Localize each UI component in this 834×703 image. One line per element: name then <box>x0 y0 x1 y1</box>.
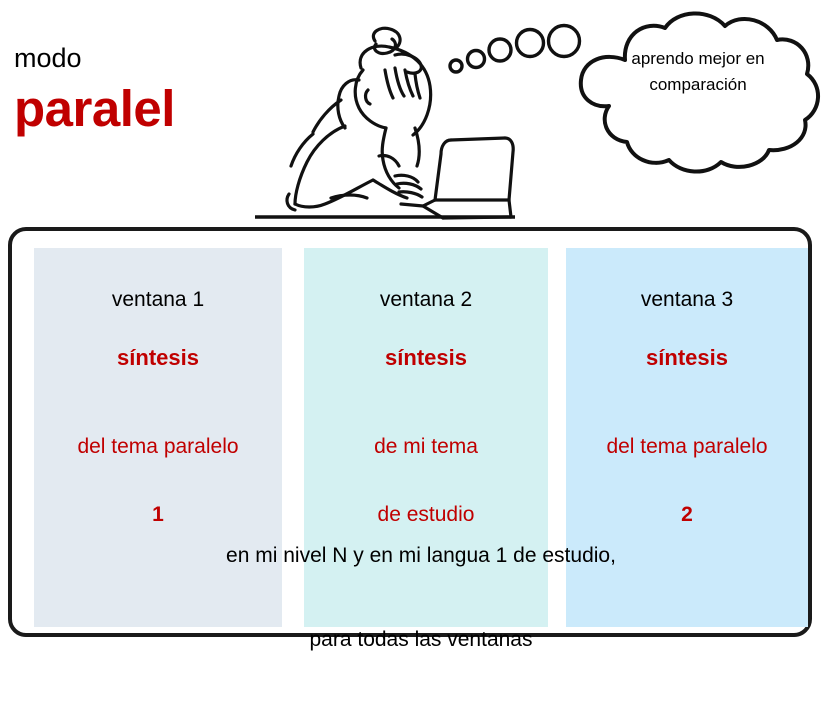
column-body-line2-2: de estudio <box>378 503 475 526</box>
header-area: modo paralel <box>0 0 834 227</box>
synthesis-heading-2: síntesis <box>304 344 548 372</box>
window-label-2: ventana 2 <box>304 287 548 313</box>
synthesis-heading-1: síntesis <box>34 344 282 372</box>
window-label-1: ventana 1 <box>34 287 282 313</box>
columns-row: ventana 1 síntesis del tema paralelo 1 v… <box>34 248 808 627</box>
column-body-3: del tema paralelo 2 <box>566 396 808 532</box>
page-title: modo paralel <box>14 42 274 138</box>
column-body-line2-3: 2 <box>681 503 693 526</box>
window-column-1[interactable]: ventana 1 síntesis del tema paralelo 1 <box>34 248 282 627</box>
column-body-2: de mi tema de estudio <box>304 396 548 532</box>
main-panel: ventana 1 síntesis del tema paralelo 1 v… <box>8 227 812 637</box>
window-label-3: ventana 3 <box>566 287 808 313</box>
column-body-1: del tema paralelo 1 <box>34 396 282 532</box>
window-column-2[interactable]: ventana 2 síntesis de mi tema de estudio <box>304 248 548 627</box>
page-title-line-1: modo <box>14 42 274 74</box>
column-body-line2-1: 1 <box>152 503 164 526</box>
synthesis-heading-3: síntesis <box>566 344 808 372</box>
thought-cloud-text: aprendo mejor en comparación <box>608 46 788 98</box>
page-title-line-2: paralel <box>14 80 274 138</box>
column-body-line1-2: de mi tema <box>374 435 478 458</box>
window-column-3[interactable]: ventana 3 síntesis del tema paralelo 2 <box>566 248 808 627</box>
column-body-line1-3: del tema paralelo <box>606 435 767 458</box>
column-body-line1-1: del tema paralelo <box>77 435 238 458</box>
